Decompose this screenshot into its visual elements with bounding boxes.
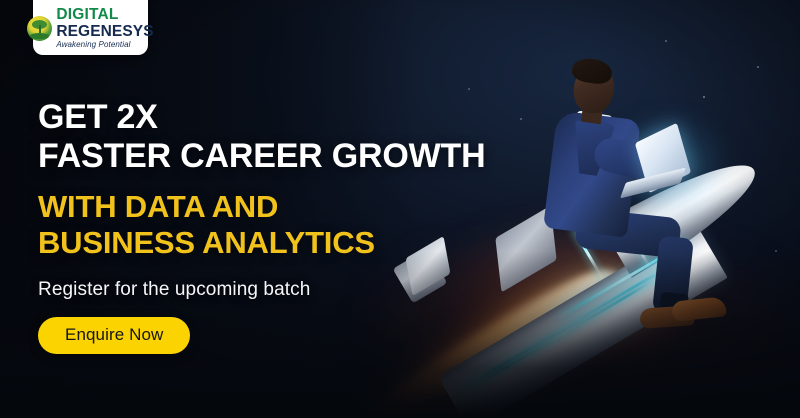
headline-accent: WITH DATA AND BUSINESS ANALYTICS: [38, 189, 508, 262]
brand-logo[interactable]: DIGITAL REGENESYS Awakening Potential: [33, 0, 148, 55]
headline-line-2: FASTER CAREER GROWTH: [38, 137, 485, 175]
page-title: GET 2X FASTER CAREER GROWTH: [38, 98, 508, 176]
headline-accent-line-1: WITH DATA AND: [38, 189, 278, 224]
subheading: Register for the upcoming batch: [38, 279, 508, 301]
tree-circle-icon: [27, 16, 52, 41]
enquire-now-button[interactable]: Enquire Now: [38, 317, 190, 354]
banner-copy: GET 2X FASTER CAREER GROWTH WITH DATA AN…: [38, 98, 508, 354]
logo-tagline: Awakening Potential: [56, 41, 153, 49]
logo-line-digital: DIGITAL: [56, 7, 153, 23]
headline-accent-line-2: BUSINESS ANALYTICS: [38, 225, 375, 260]
promo-banner: DIGITAL REGENESYS Awakening Potential GE…: [0, 0, 800, 418]
headline-line-1: GET 2X: [38, 98, 158, 136]
logo-line-regenesys: REGENESYS: [56, 24, 153, 40]
